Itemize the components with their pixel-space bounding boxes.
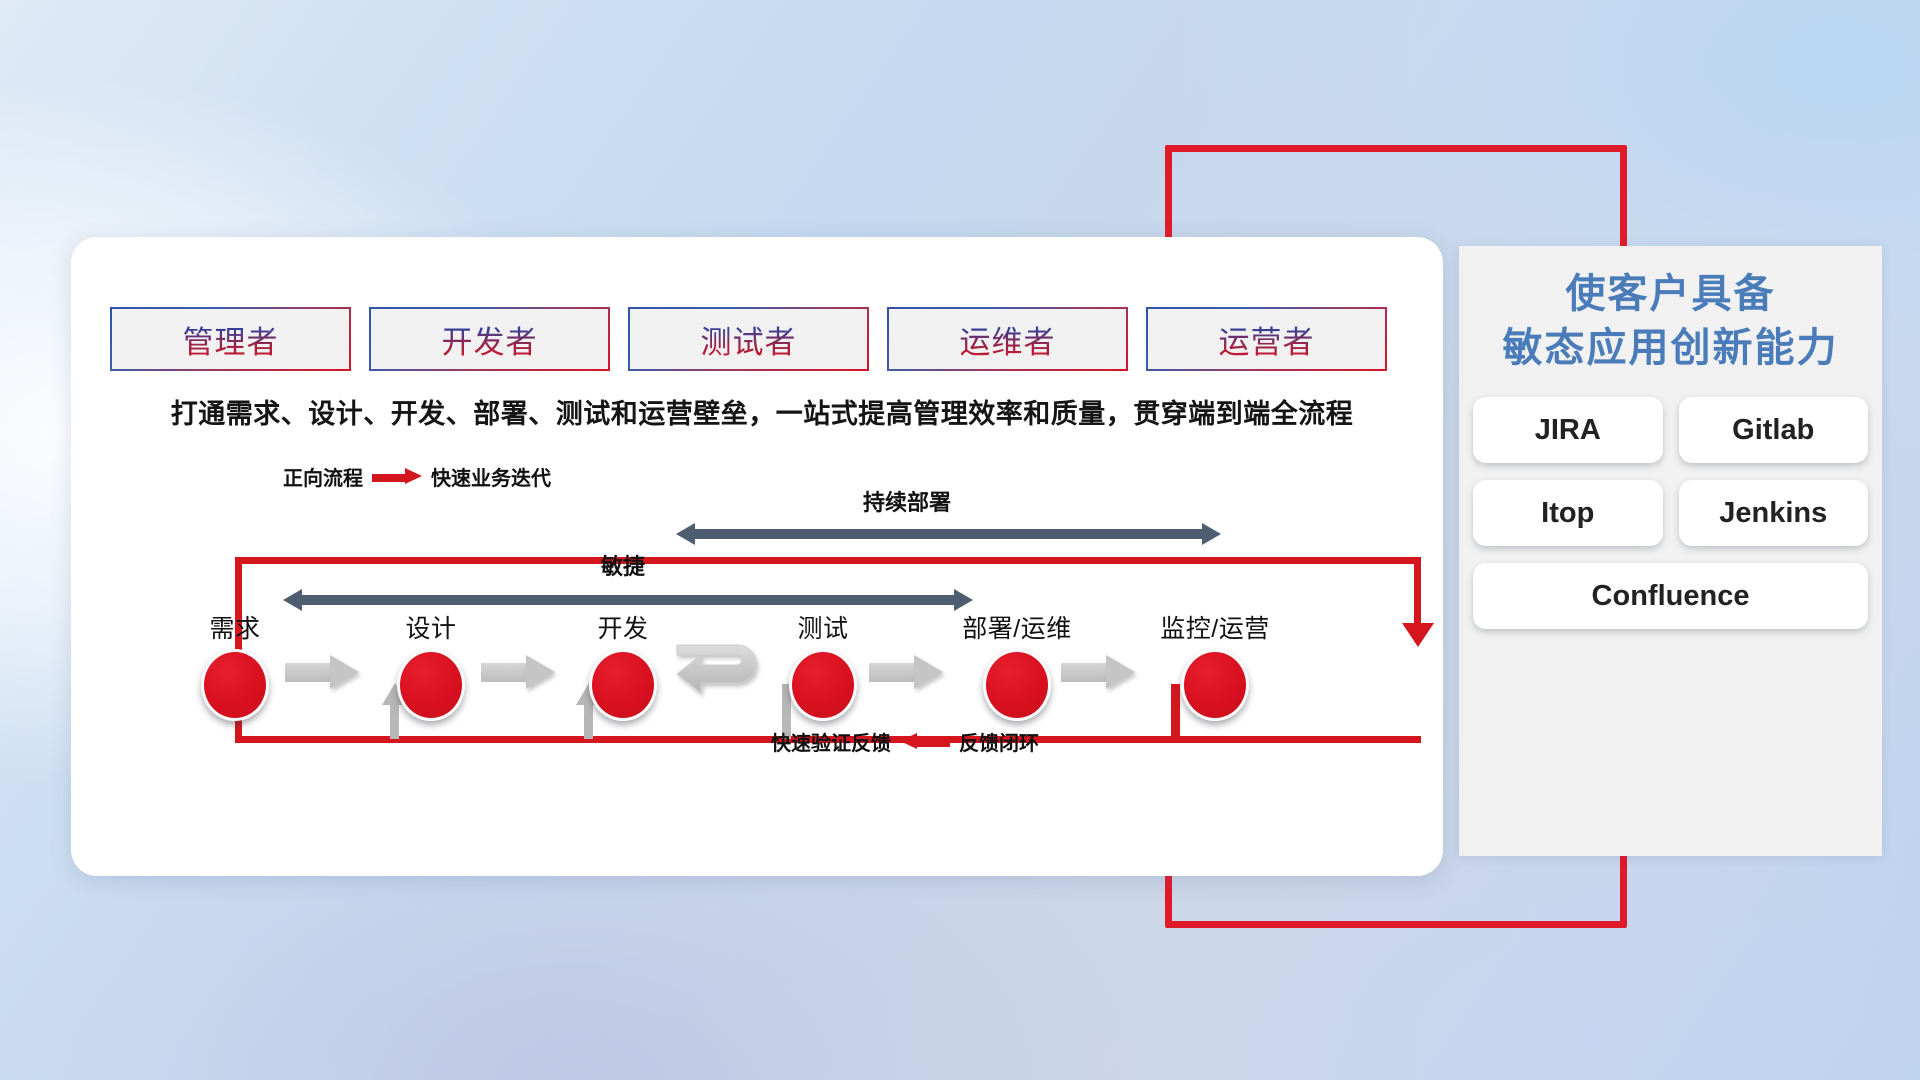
arrow-shaft [299,595,957,605]
stage-label: 测试 [757,609,889,645]
annotation-forward-from: 正向流程 [283,462,363,491]
flow-arrow-right-icon [869,655,943,689]
role-label: 测试者 [701,317,797,362]
stage-label: 监控/运营 [1149,609,1281,645]
flow-arrow-right-icon [285,655,359,689]
flow-arrow-right-icon [1061,655,1135,689]
span-arrow-continuous-deployment [676,523,1221,545]
annotation-feedback-from: 快速验证反馈 [771,727,891,756]
uturn-loop-icon [675,641,771,707]
tools-panel: 使客户具备 敏态应用创新能力 JIRA Gitlab Itop Jenkins … [1459,246,1882,856]
annotation-forward-flow: 正向流程 快速业务迭代 [283,462,551,491]
annotation-feedback-loop: 快速验证反馈 反馈闭环 [771,727,1039,756]
card-subtitle: 打通需求、设计、开发、部署、测试和运营壁垒，一站式提高管理效率和质量，贯穿端到端… [117,392,1407,431]
stage-dot-icon [397,649,465,721]
stage-dot-icon [1181,649,1249,721]
stage-dot-icon [589,649,657,721]
role-label: 管理者 [183,317,279,362]
role-box-manager[interactable]: 管理者 [110,307,351,371]
tool-chip-jira[interactable]: JIRA [1473,397,1663,463]
headline-line-1: 使客户具备 [1459,268,1882,322]
role-box-developer[interactable]: 开发者 [369,307,610,371]
stage-monitor-operations[interactable]: 监控/运营 [1149,609,1281,721]
stage-label: 开发 [557,609,689,645]
arrow-shaft [692,529,1205,539]
stage-dot-icon [789,649,857,721]
arrow-left-red-icon [900,736,950,747]
role-label: 运营者 [1219,317,1315,362]
span-arrow-agile [283,589,973,611]
stage-design[interactable]: 设计 [365,609,497,721]
stage-dot-icon [983,649,1051,721]
tool-chip-confluence[interactable]: Confluence [1473,563,1868,629]
feedback-loop-top-edge [235,557,1421,564]
arrow-head-right-icon [1202,523,1221,545]
headline-line-2: 敏态应用创新能力 [1459,322,1882,376]
role-box-ops[interactable]: 运维者 [887,307,1128,371]
annotation-feedback-to: 反馈闭环 [959,727,1039,756]
tools-panel-headline: 使客户具备 敏态应用创新能力 [1459,246,1882,375]
stage-label: 部署/运维 [951,609,1083,645]
tool-chip-gitlab[interactable]: Gitlab [1679,397,1869,463]
stage-label: 设计 [365,609,497,645]
arrow-head-right-icon [954,589,973,611]
role-label: 运维者 [960,317,1056,362]
stage-requirements[interactable]: 需求 [169,609,301,721]
stage-development[interactable]: 开发 [557,609,689,721]
flow-arrow-right-icon [481,655,555,689]
arrow-right-red-icon [372,471,422,482]
role-label: 开发者 [442,317,538,362]
stage-dot-icon [201,649,269,721]
stage-label: 需求 [169,609,301,645]
tool-chip-grid: JIRA Gitlab Itop Jenkins Confluence [1473,397,1868,629]
feedback-loop-right-edge [1414,557,1421,627]
main-card: 管理者 开发者 测试者 运维者 运营者 打通需求、设计、开发、部署、测试和运营壁… [71,237,1443,876]
role-box-operations[interactable]: 运营者 [1146,307,1387,371]
span-label-continuous-deployment: 持续部署 [863,485,951,517]
role-box-row: 管理者 开发者 测试者 运维者 运营者 [110,307,1387,371]
tool-chip-jenkins[interactable]: Jenkins [1679,480,1869,546]
annotation-forward-to: 快速业务迭代 [431,462,551,491]
span-label-agile: 敏捷 [601,549,645,581]
feedback-loop-arrow-down-icon [1402,623,1434,647]
tool-chip-itop[interactable]: Itop [1473,480,1663,546]
role-box-tester[interactable]: 测试者 [628,307,869,371]
